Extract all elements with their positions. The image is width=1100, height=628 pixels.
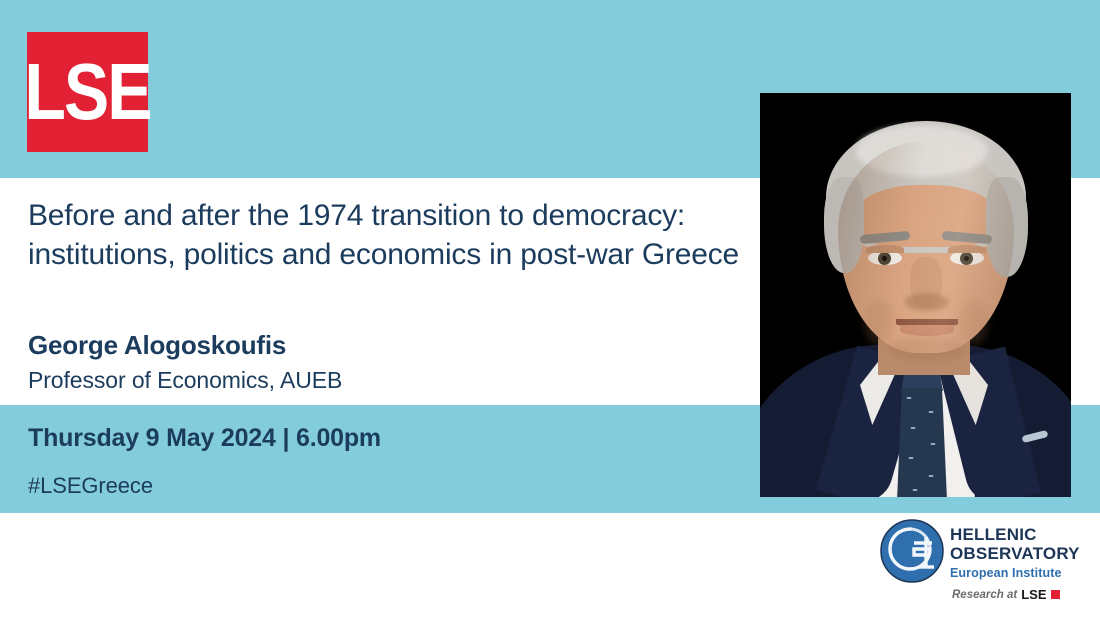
- event-poster: LSE Before and after the 1974 transition…: [0, 0, 1100, 628]
- event-hashtag: #LSEGreece: [28, 473, 153, 499]
- hellenic-observatory-emblem-icon: [880, 519, 944, 583]
- lse-red-square-icon: [1051, 590, 1060, 599]
- portrait-illustration: [760, 93, 1071, 497]
- tie-pattern: [897, 388, 947, 497]
- speaker-block: George Alogoskoufis Professor of Economi…: [28, 329, 728, 396]
- speaker-photo: [760, 93, 1071, 497]
- hellenic-observatory-logo: HELLENIC OBSERVATORY European Institute …: [880, 517, 1090, 621]
- lse-logo-text: LSE: [24, 52, 150, 132]
- ho-subtitle: European Institute: [950, 566, 1090, 580]
- event-title: Before and after the 1974 transition to …: [28, 196, 752, 274]
- speaker-name: George Alogoskoufis: [28, 329, 728, 362]
- face-shading: [838, 141, 1014, 353]
- ho-name-line-2: OBSERVATORY: [950, 544, 1090, 563]
- hellenic-observatory-wordmark: HELLENIC OBSERVATORY European Institute: [950, 525, 1090, 580]
- research-at-lse-mark: Research at LSE: [952, 587, 1060, 602]
- research-lse-label: LSE: [1021, 587, 1046, 602]
- ho-name-line-1: HELLENIC: [950, 525, 1090, 544]
- lse-logo: LSE: [27, 32, 148, 152]
- research-at-label: Research at: [952, 589, 1017, 601]
- speaker-role: Professor of Economics, AUEB: [28, 365, 728, 395]
- event-date-time: Thursday 9 May 2024 | 6.00pm: [28, 424, 381, 453]
